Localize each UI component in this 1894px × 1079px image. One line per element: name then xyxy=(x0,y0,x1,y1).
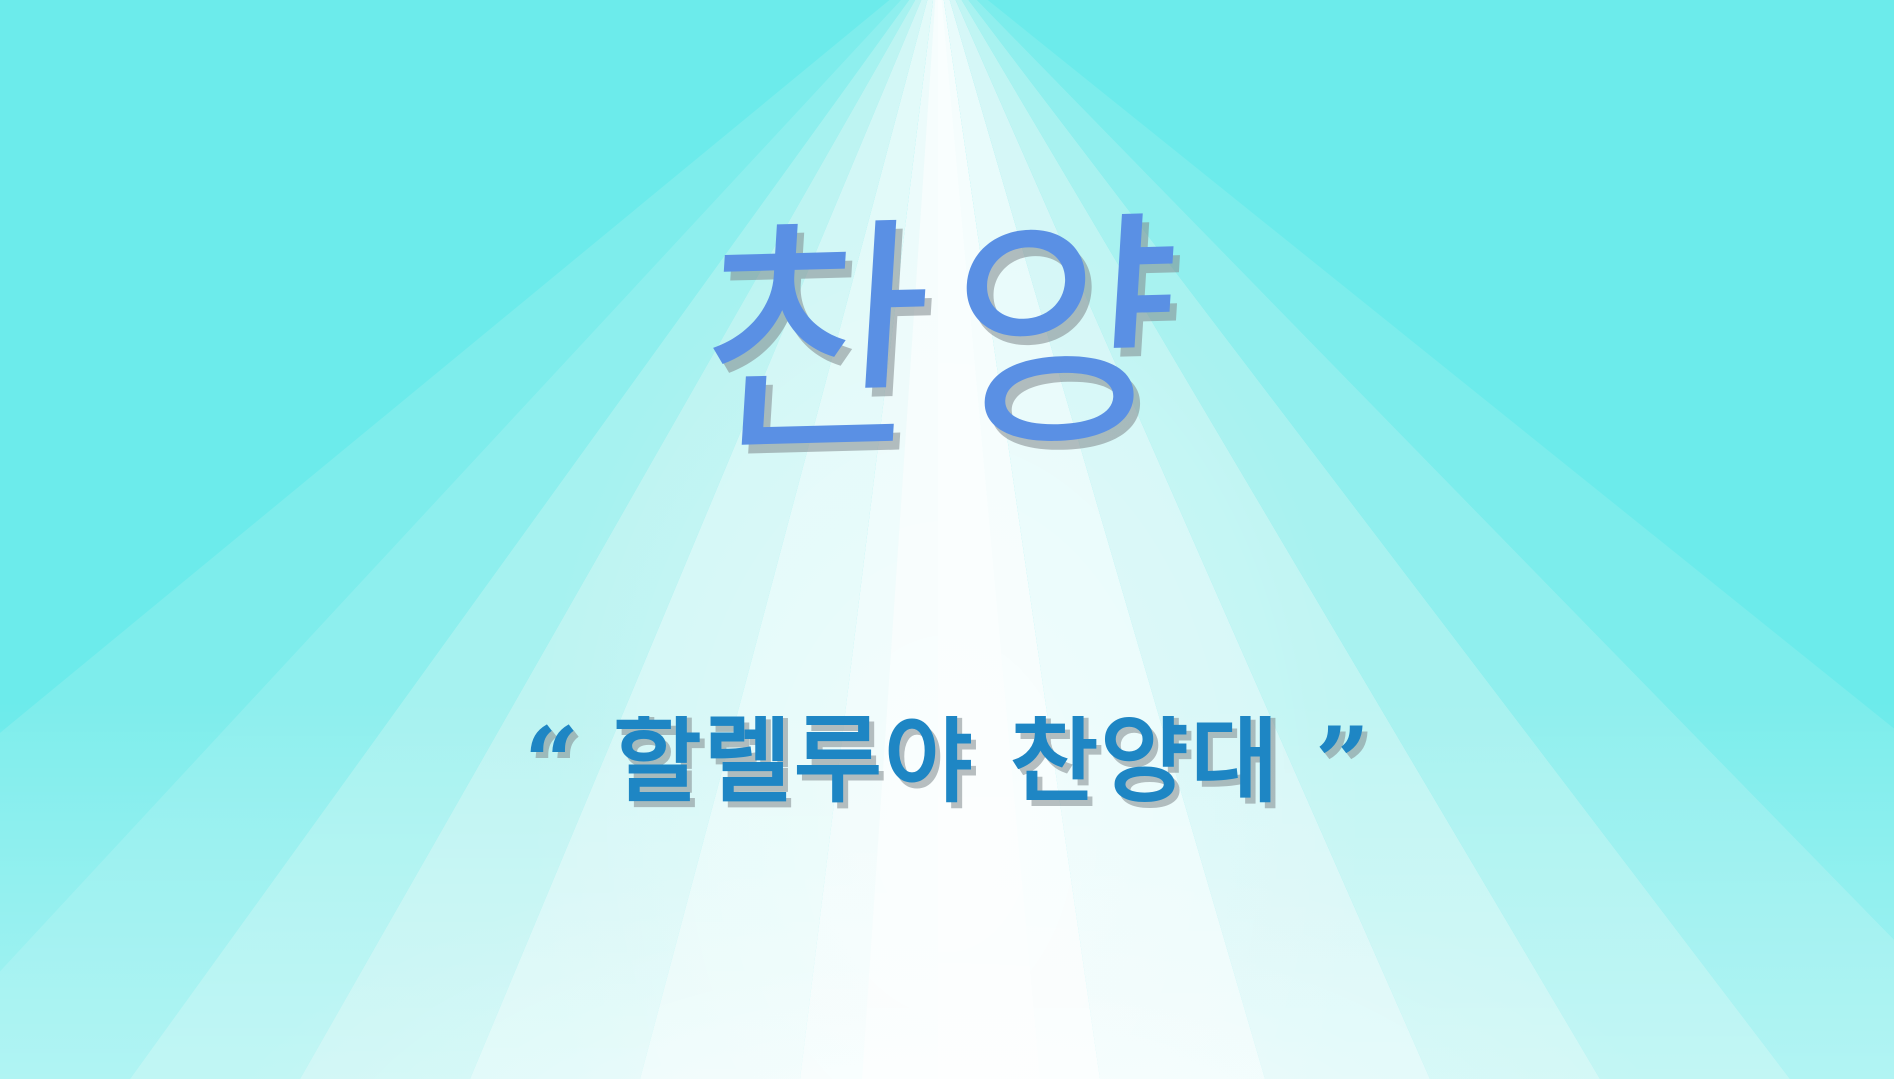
closing-quote-icon: ” xyxy=(1315,722,1370,805)
title-block: 찬양 xyxy=(0,214,1894,464)
slide-canvas: 찬양 “ 할렐루야 찬양대 ” xyxy=(0,0,1894,1079)
slide-subtitle: 할렐루야 찬양대 xyxy=(613,716,1281,804)
subtitle-block: “ 할렐루야 찬양대 ” xyxy=(0,716,1894,866)
opening-quote-icon: “ xyxy=(524,722,579,805)
slide-title: 찬양 xyxy=(693,208,1201,471)
slide-content: 찬양 “ 할렐루야 찬양대 ” xyxy=(0,0,1894,1079)
